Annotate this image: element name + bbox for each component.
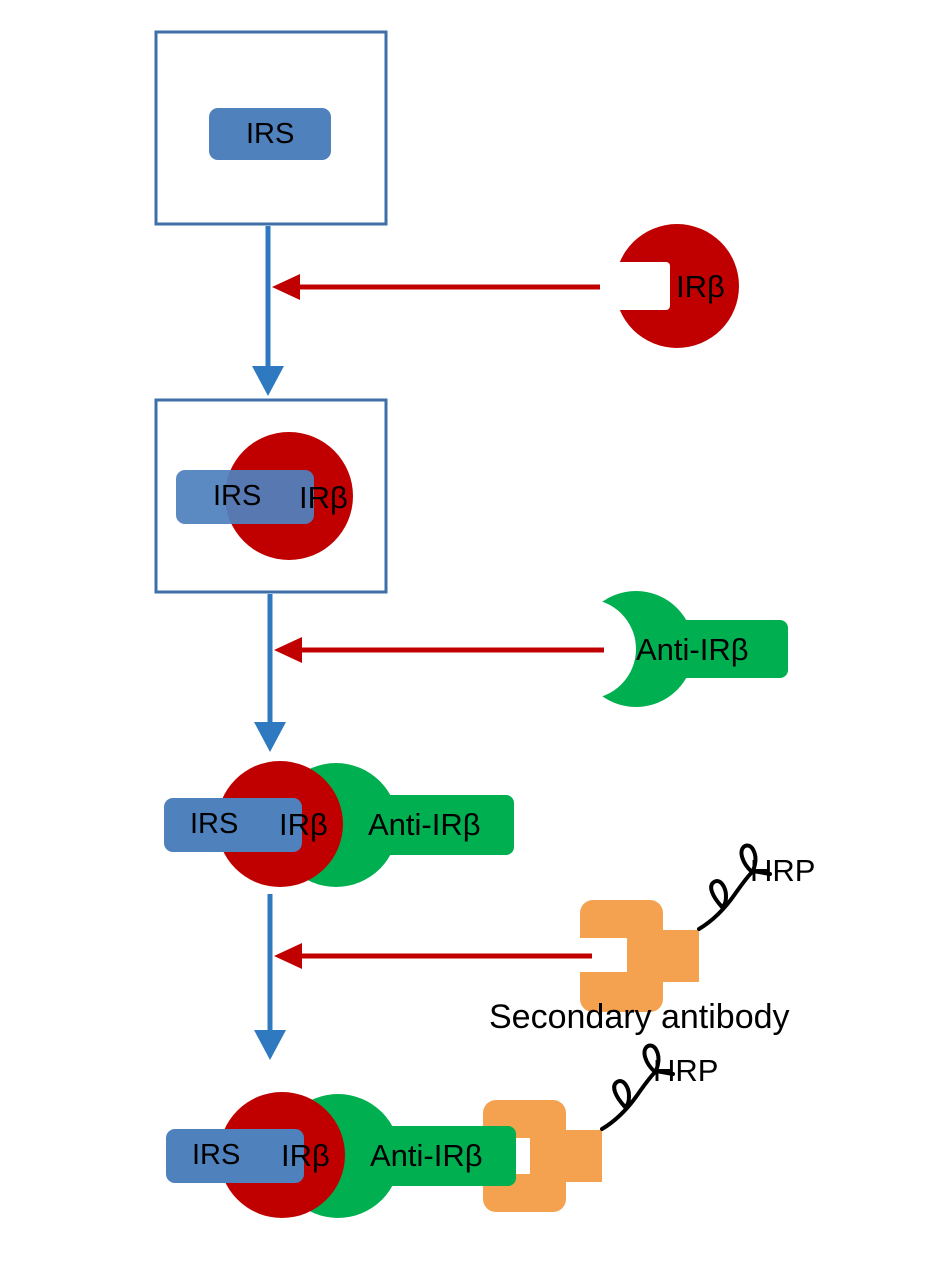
step-3-irs-label: IRS [190, 810, 238, 839]
reagent-arrow-3 [274, 943, 592, 969]
step-4-anti-irb-label: Anti-IRβ [370, 1140, 483, 1171]
reagent-arrow-1 [272, 274, 600, 300]
step-4-irb-label: IRβ [281, 1140, 330, 1171]
reagent-irb-label: IRβ [676, 271, 725, 302]
flow-arrow-2 [254, 594, 286, 752]
reagent-hrp-label: HRP [750, 855, 815, 886]
step-3-irb-label: IRβ [279, 809, 328, 840]
reagent-anti-irb-label: Anti-IRβ [636, 634, 749, 665]
step-1-irs-label: IRS [246, 120, 294, 149]
reagent-secondary-antibody-shape [580, 900, 699, 1012]
flow-arrow-1 [252, 226, 284, 396]
reagent-arrow-2 [274, 637, 604, 663]
step-2-irs-label: IRS [213, 482, 261, 511]
diagram-canvas: IRS IRβ IRS IRβ Anti-IRβ IRS IRβ Anti-IR… [0, 0, 934, 1272]
step-3-anti-irb-label: Anti-IRβ [368, 809, 481, 840]
flow-arrow-3 [254, 894, 286, 1060]
diagram-vector-layer [0, 0, 934, 1272]
step-2-irb-label: IRβ [299, 482, 348, 513]
step-4-hrp-label: HRP [653, 1055, 718, 1086]
secondary-antibody-caption: Secondary antibody [489, 1000, 790, 1034]
step-4-irs-label: IRS [192, 1141, 240, 1170]
